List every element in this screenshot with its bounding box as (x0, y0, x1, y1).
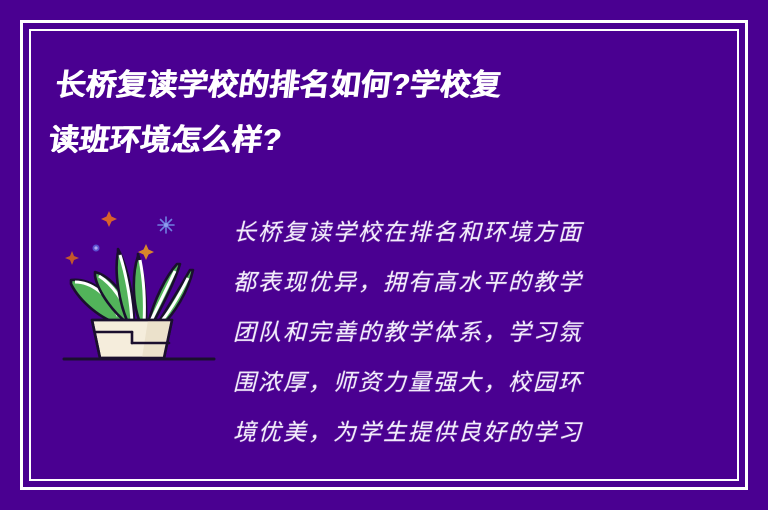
body-line-1: 长桥复读学校在排名和环境方面 (233, 208, 653, 258)
plant-leaves (71, 249, 193, 328)
sparkle-star-orange-1 (101, 211, 117, 227)
sparkle-star-orange-3 (65, 251, 79, 265)
sparkle-star-orange-2 (138, 244, 154, 260)
body-paragraph: 长桥复读学校在排名和环境方面 都表现优异，拥有高水平的教学 团队和完善的教学体系… (233, 208, 653, 458)
body-line-2: 都表现优异，拥有高水平的教学 (233, 258, 653, 308)
body-line-3: 团队和完善的教学体系，学习氛 (233, 308, 653, 358)
page-title-line-1: 长桥复读学校的排名如何?学校复 (52, 58, 659, 113)
poster-canvas: 长桥复读学校的排名如何?学校复 读班环境怎么样? (0, 0, 768, 510)
body-line-4: 围浓厚，师资力量强大，校园环 (233, 358, 653, 408)
sparkle-snowflake-blue (158, 217, 174, 233)
sparkle-dot-blue (93, 245, 100, 252)
plant-pot (92, 320, 172, 358)
potted-plant-illustration (62, 192, 222, 367)
body-line-5: 境优美，为学生提供良好的学习 (233, 408, 653, 458)
page-title-line-2: 读班环境怎么样? (45, 113, 652, 168)
page-title: 长桥复读学校的排名如何?学校复 读班环境怎么样? (45, 58, 659, 168)
